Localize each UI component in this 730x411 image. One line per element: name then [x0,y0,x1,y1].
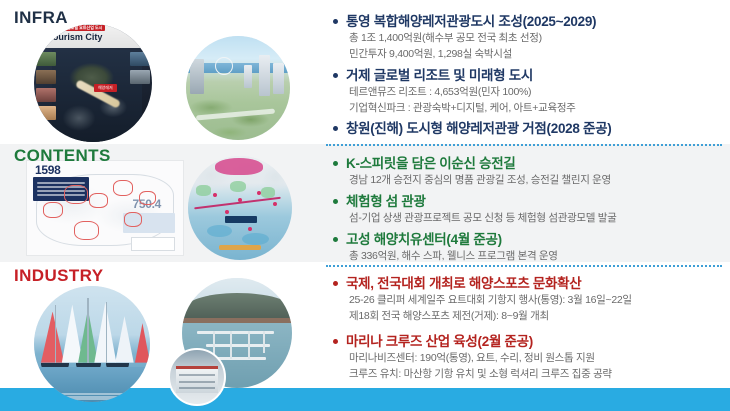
bullet-subline: 민간투자 9,400억원, 1,298실 숙박시설 [330,47,720,63]
sea-map-green-zone [230,181,247,192]
bullet-headline: 국제, 전국대회 개최로 해양스포츠 문화확산 [330,274,720,293]
mast [55,305,56,363]
bullet-subline: 섬-기업 상생 관광프로젝트 공모 신청 등 체험형 섬관광모델 발굴 [330,211,720,227]
poster-title-text: Tourism City [48,32,102,42]
infra-text-column: 통영 복합해양레저관광도시 조성(2025~2029) 총 1조 1,400억원… [326,0,730,141]
yacht-race-photo-image [34,286,150,402]
sea-map-green-zone [261,187,276,197]
sea-map-area [242,233,269,245]
industry-text-column: 국제, 전국대회 개최로 해양스포츠 문화확산 25-26 클리퍼 세계일주 요… [326,262,730,385]
dock-finger [248,331,250,360]
bullet-subline: 총 1조 1,400억원(해수부 공모 전국 최초 선정) [330,31,720,47]
bullet-subline: 25-26 클리퍼 세계일주 요트대회 기항지 행사(통영): 3월 16일~2… [330,293,720,309]
sea-map-highlight-zone [215,158,263,175]
future-city-render-image [186,36,290,140]
bullet-headline: 거제 글로벌 리조트 및 미래형 도시 [330,66,720,85]
bullet-item: 고성 해양치유센터(4월 준공) 총 336억원, 해수 스파, 웰니스 프로그… [330,230,720,265]
section-divider [326,144,722,146]
bullet-item: 국제, 전국대회 개최로 해양스포츠 문화확산 25-26 클리퍼 세계일주 요… [330,274,720,325]
wave [34,393,150,395]
bullet-item: 거제 글로벌 리조트 및 미래형 도시 테르앤뮤즈 리조트 : 4,653억원(… [330,66,720,117]
bullet-subline: 기업혁신파크 : 관광숙박+디지털, 케어, 아트+교육정주 [330,101,720,117]
sea-water [34,367,150,402]
route-marker [89,193,108,208]
mast [87,298,88,363]
bullet-subline: 경남 12개 승전지 중심의 명품 관광길 조성, 승전길 챌린지 운영 [330,173,720,189]
poster-thumb [36,70,56,84]
hillside [182,293,292,319]
sea-map-point [248,227,252,231]
city-building [244,65,251,88]
poster-map-badge: 해양레저 [94,84,117,92]
route-marker [43,202,63,218]
section-infra: INFRA 글로벌 요트산업 도시 Tourism City 해양레저 [0,0,730,144]
sea-map-point [273,202,277,206]
bullet-headline: 마리나 크루즈 산업 육성(2월 준공) [330,332,720,351]
ferris-wheel-icon [215,57,233,75]
bullet-headline: K-스피릿을 담은 이순신 승전길 [330,154,720,173]
section-divider [326,265,722,267]
bullet-subline: 제18회 전국 해양스포츠 제전(거제): 8~9월 개최 [330,309,720,325]
wave [34,398,150,400]
yi-sunsin-route-map-image: 1598 750.4 [26,160,184,256]
building-facade [176,366,217,393]
content-panel: INFRA 글로벌 요트산업 도시 Tourism City 해양레저 [0,0,730,388]
bullet-headline: 고성 해양치유센터(4월 준공) [330,230,720,249]
route-marker [64,185,87,204]
bullet-headline: 통영 복합해양레저관광도시 조성(2025~2029) [330,12,720,31]
bullet-subline: 크루즈 유치: 마산항 기항 유치 및 소형 럭셔리 크루즈 집중 공략 [330,367,720,383]
dock-finger [230,331,232,360]
poster-thumb [130,52,150,66]
bullet-subline: 테르앤뮤즈 리조트 : 4,653억원(민자 100%) [330,85,720,101]
yacht-scene [34,286,150,402]
contents-text-column: K-스피릿을 담은 이순신 승전길 경남 12개 승전지 중심의 명품 관광길 … [326,144,730,268]
contents-visuals: CONTENTS 1598 750.4 [0,144,326,262]
section-contents: CONTENTS 1598 750.4 [0,144,730,262]
section-label-industry: INDUSTRY [14,266,103,286]
section-label-infra: INFRA [14,8,68,28]
route-marker [139,191,156,205]
marina-biz-center-inset-image [168,348,226,406]
bullet-item: 마리나 크루즈 산업 육성(2월 준공) 마리나비즈센터: 190억(통영), … [330,332,720,383]
sea-map-green-zone [196,185,211,195]
mast [106,302,107,362]
sea-map-body [188,156,292,260]
bullet-item: 창원(진해) 도시형 해양레저관광 거점(2028 준공) [330,119,720,138]
sail [115,316,134,362]
poster-map-graphic: 해양레저 [52,50,142,142]
city-render-body [186,36,290,140]
poster-thumb [36,52,56,66]
marine-tourism-circle-map-image [188,156,292,260]
bullet-item: 통영 복합해양레저관광도시 조성(2025~2029) 총 1조 1,400억원… [330,12,720,63]
route-marker [124,212,143,227]
poster-thumb [130,70,150,84]
bullet-item: K-스피릿을 담은 이순신 승전길 경남 12개 승전지 중심의 명품 관광길 … [330,154,720,189]
poster-ribbon-label: 글로벌 요트산업 도시 [64,25,105,31]
bullet-headline: 창원(진해) 도시형 해양레저관광 거점(2028 준공) [330,119,720,138]
route-map-legend [131,237,175,251]
sea-map-coast-line [219,245,261,250]
section-label-contents: CONTENTS [14,146,111,166]
dock-finger [263,331,265,353]
sail [135,323,150,362]
tourism-city-poster-image: 글로벌 요트산업 도시 Tourism City 해양레저 [34,24,152,142]
poster-thumb [36,106,56,120]
poster-body: 글로벌 요트산업 도시 Tourism City 해양레저 [34,24,152,142]
shoreline [182,318,292,324]
presentation-slide: INFRA 글로벌 요트산업 도시 Tourism City 해양레저 [0,0,730,411]
route-marker [113,180,133,196]
sea-map-area [207,225,232,237]
bullet-headline: 체험형 섬 관광 [330,192,720,211]
infra-visuals: INFRA 글로벌 요트산업 도시 Tourism City 해양레저 [0,0,326,144]
bullet-subline: 마리나비즈센터: 190억(통영), 요트, 수리, 정비 원스톱 지원 [330,351,720,367]
dock-walkway [215,357,266,360]
bullet-item: 체험형 섬 관광 섬-기업 상생 관광프로젝트 공모 신청 등 체험형 섬관광모… [330,192,720,227]
route-marker [74,221,99,240]
poster-thumb [36,88,56,102]
sail [41,312,64,363]
section-industry: INDUSTRY [0,262,730,388]
sea-map-point [238,198,242,202]
dock-walkway [206,344,270,347]
industry-visuals: INDUSTRY [0,262,326,388]
sea-map-label-bar [225,216,256,223]
sea-map-point [225,210,229,214]
sail [62,305,83,363]
